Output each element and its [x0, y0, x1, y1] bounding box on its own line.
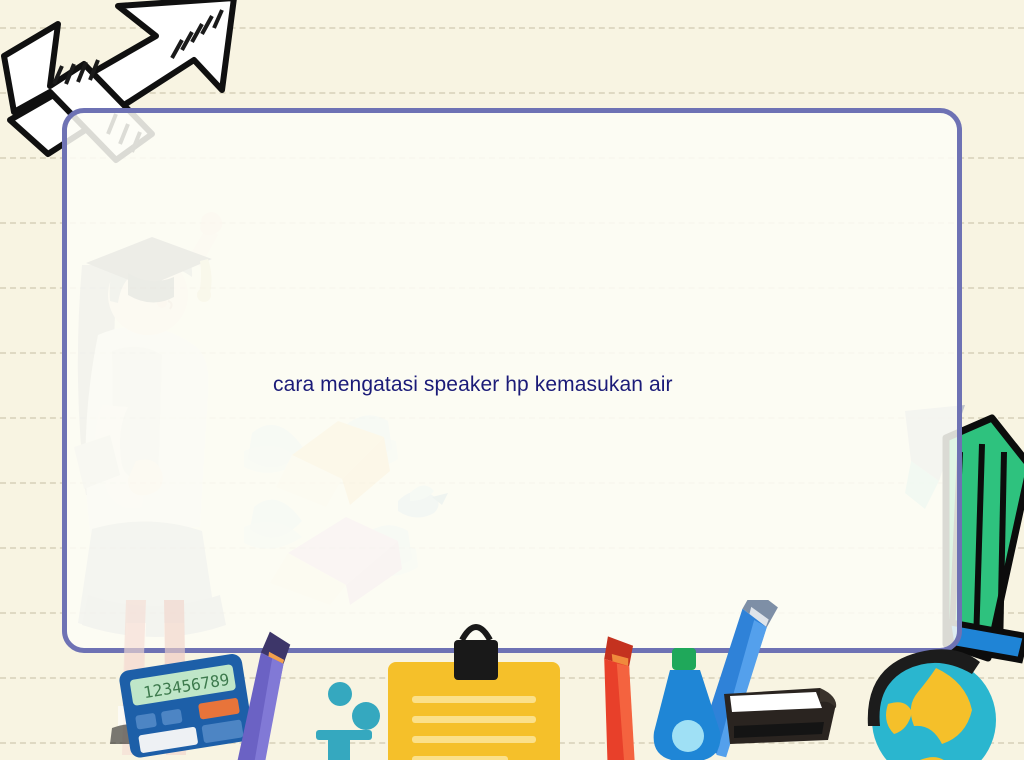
page-title: cara mengatasi speaker hp kemasukan air — [273, 373, 673, 397]
svg-text:123456789: 123456789 — [142, 670, 231, 702]
slide-canvas: cara mengatasi speaker hp kemasukan air … — [0, 0, 1024, 760]
content-card: cara mengatasi speaker hp kemasukan air — [62, 108, 962, 653]
